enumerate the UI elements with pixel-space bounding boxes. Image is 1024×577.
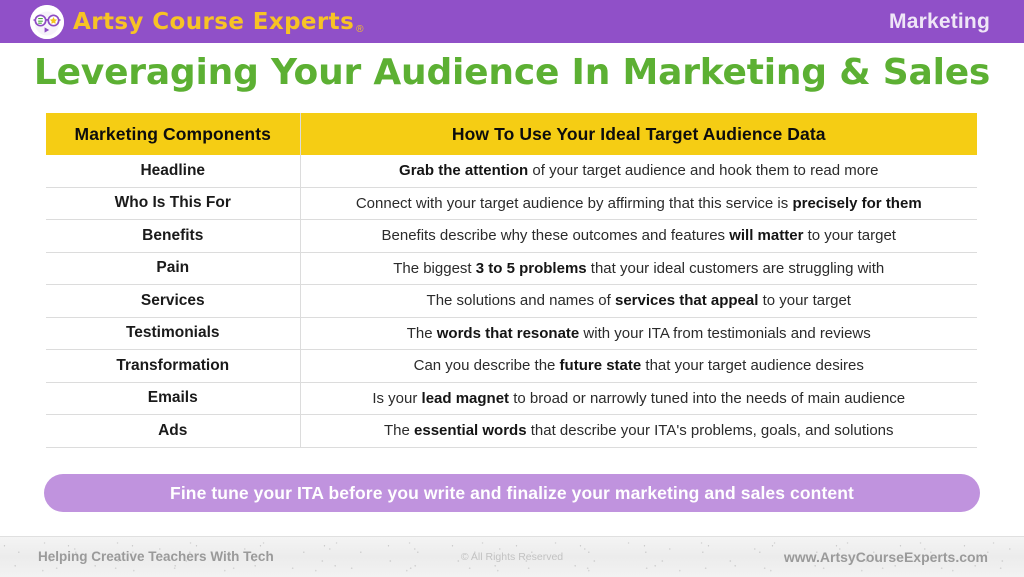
top-header-bar: Artsy Course Experts ® Marketing — [0, 0, 1024, 43]
cell-description: The essential words that describe your I… — [300, 415, 977, 448]
cell-component: Testimonials — [46, 317, 300, 350]
page-title: Leveraging Your Audience In Marketing & … — [0, 52, 1024, 93]
table-row: EmailsIs your lead magnet to broad or na… — [46, 382, 977, 415]
table-row: HeadlineGrab the attention of your targe… — [46, 155, 977, 187]
marketing-components-table: Marketing Components How To Use Your Ide… — [46, 113, 977, 448]
cell-component: Pain — [46, 252, 300, 285]
cell-description: Grab the attention of your target audien… — [300, 155, 977, 187]
cell-component: Who Is This For — [46, 187, 300, 220]
cell-description: Is your lead magnet to broad or narrowly… — [300, 382, 977, 415]
column-header-components: Marketing Components — [46, 113, 300, 155]
table-body: HeadlineGrab the attention of your targe… — [46, 155, 977, 447]
brand-name: Artsy Course Experts — [73, 9, 354, 35]
footer-website[interactable]: www.ArtsyCourseExperts.com — [784, 537, 988, 577]
section-label: Marketing — [889, 0, 990, 43]
callout-text: Fine tune your ITA before you write and … — [170, 483, 854, 504]
callout-banner: Fine tune your ITA before you write and … — [44, 474, 980, 512]
table-row: AdsThe essential words that describe you… — [46, 415, 977, 448]
cell-component: Services — [46, 285, 300, 318]
table-row: Who Is This ForConnect with your target … — [46, 187, 977, 220]
footer-bar: Helping Creative Teachers With Tech © Al… — [0, 536, 1024, 577]
cell-component: Transformation — [46, 350, 300, 383]
table-row: PainThe biggest 3 to 5 problems that you… — [46, 252, 977, 285]
cell-description: Can you describe the future state that y… — [300, 350, 977, 383]
table-row: BenefitsBenefits describe why these outc… — [46, 220, 977, 253]
brand-lockup[interactable]: Artsy Course Experts ® — [30, 5, 364, 39]
cell-component: Headline — [46, 155, 300, 187]
table-row: ServicesThe solutions and names of servi… — [46, 285, 977, 318]
table-header-row: Marketing Components How To Use Your Ide… — [46, 113, 977, 155]
cell-component: Benefits — [46, 220, 300, 253]
brand-trademark: ® — [356, 24, 363, 39]
cell-description: The solutions and names of services that… — [300, 285, 977, 318]
table-row: TestimonialsThe words that resonate with… — [46, 317, 977, 350]
column-header-usage: How To Use Your Ideal Target Audience Da… — [300, 113, 977, 155]
cell-description: The biggest 3 to 5 problems that your id… — [300, 252, 977, 285]
cell-description: The words that resonate with your ITA fr… — [300, 317, 977, 350]
cell-component: Emails — [46, 382, 300, 415]
cell-description: Connect with your target audience by aff… — [300, 187, 977, 220]
table-row: TransformationCan you describe the futur… — [46, 350, 977, 383]
glasses-avatar-icon — [30, 5, 64, 39]
cell-component: Ads — [46, 415, 300, 448]
cell-description: Benefits describe why these outcomes and… — [300, 220, 977, 253]
